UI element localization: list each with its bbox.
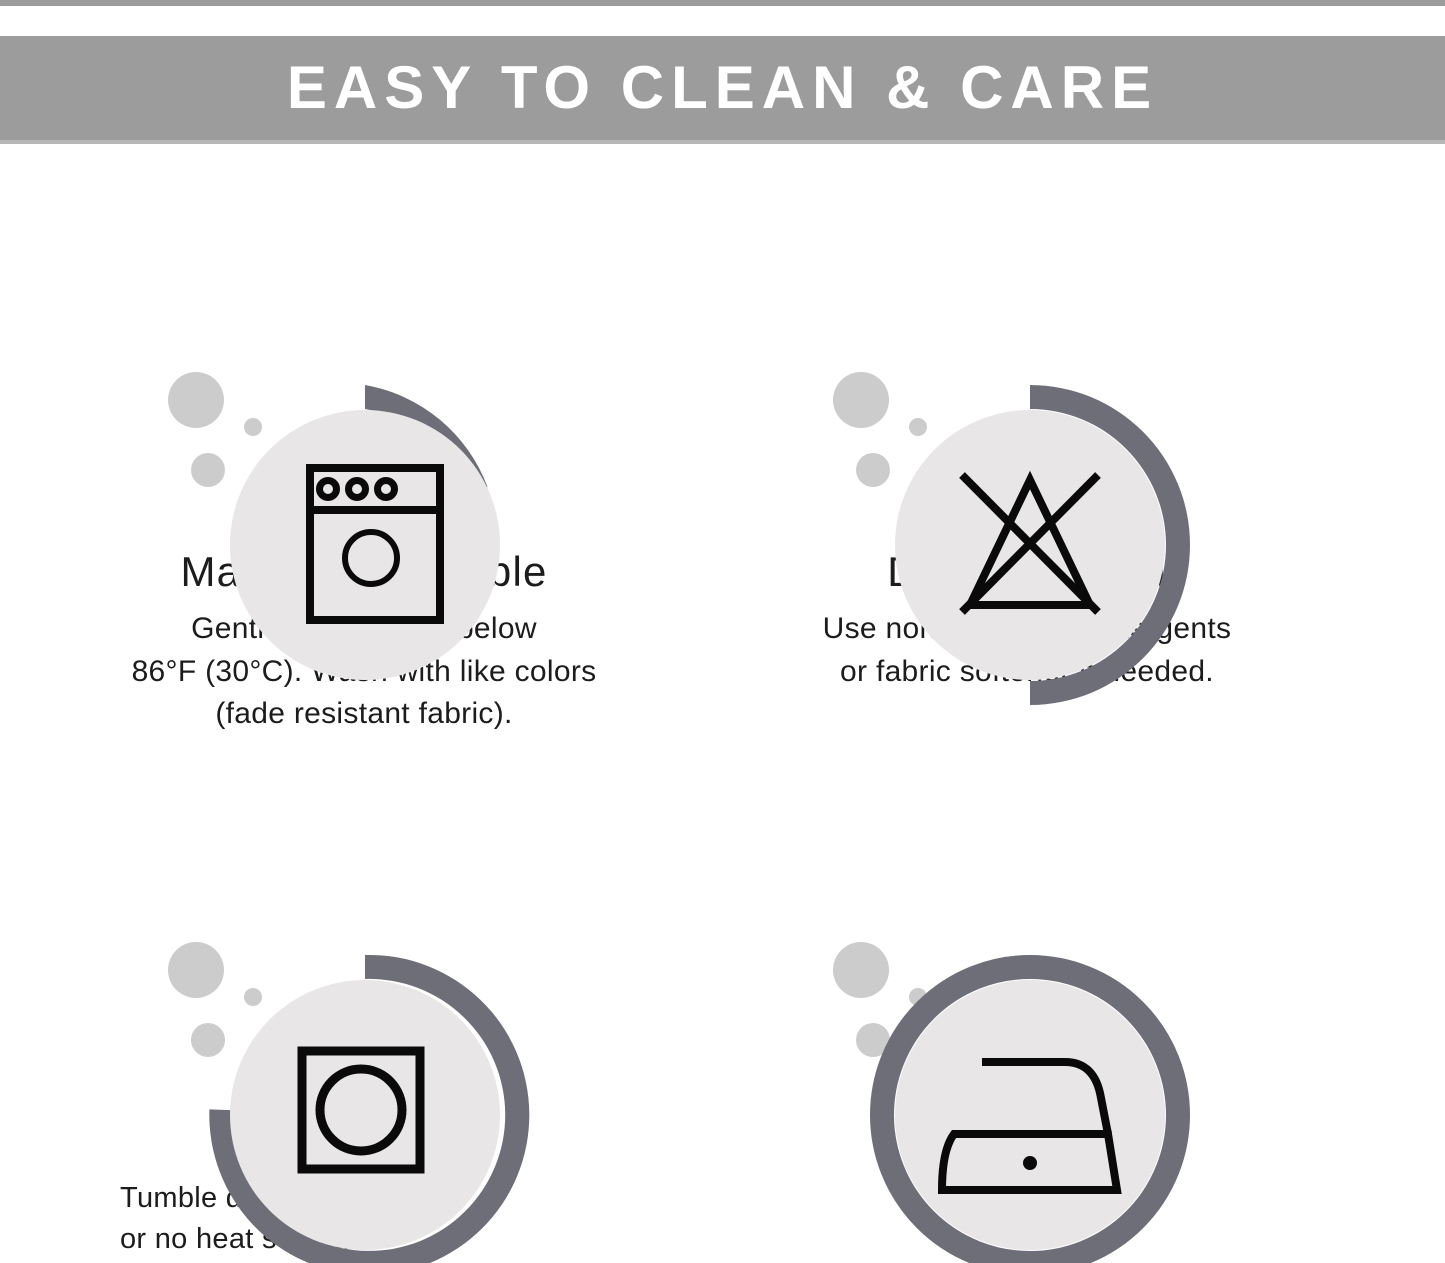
banner-bottom-rule bbox=[0, 140, 1445, 144]
care-instructions-grid: Machine washable Gentle cycle, wash belo… bbox=[0, 150, 1445, 1263]
bubble-small-icon bbox=[909, 418, 927, 436]
header-banner: EASY TO CLEAN & CARE bbox=[0, 36, 1445, 140]
badge-iron bbox=[665, 720, 1387, 1120]
care-panel-tumble-dry: Tumble Dry Tumble dry on low heat or no … bbox=[0, 720, 722, 1260]
bubble-medium-icon bbox=[191, 1023, 225, 1057]
bubble-small-icon bbox=[244, 418, 262, 436]
care-panel-do-not-bleach: Do not Bleach Use non-bleaching detergen… bbox=[665, 150, 1387, 693]
bubble-large-icon bbox=[833, 372, 889, 428]
bubble-large-icon bbox=[168, 372, 224, 428]
bubble-medium-icon bbox=[856, 453, 890, 487]
badge-do-not-bleach bbox=[665, 150, 1387, 550]
iron-heat-dot-icon bbox=[1023, 1156, 1037, 1170]
bubble-small-icon bbox=[244, 988, 262, 1006]
bubble-medium-icon bbox=[191, 453, 225, 487]
care-panel-iron: Iron bbox=[665, 720, 1387, 1178]
bubble-large-icon bbox=[833, 942, 889, 998]
bubble-large-icon bbox=[168, 942, 224, 998]
icon-disc bbox=[230, 980, 500, 1250]
page-title: EASY TO CLEAN & CARE bbox=[287, 58, 1158, 118]
top-divider-rule bbox=[0, 0, 1445, 6]
badge-tumble-dry bbox=[0, 720, 722, 1120]
icon-disc bbox=[230, 410, 500, 680]
care-panel-machine-washable: Machine washable Gentle cycle, wash belo… bbox=[0, 150, 722, 736]
icon-disc bbox=[895, 980, 1165, 1250]
badge-machine-washable bbox=[0, 150, 722, 550]
